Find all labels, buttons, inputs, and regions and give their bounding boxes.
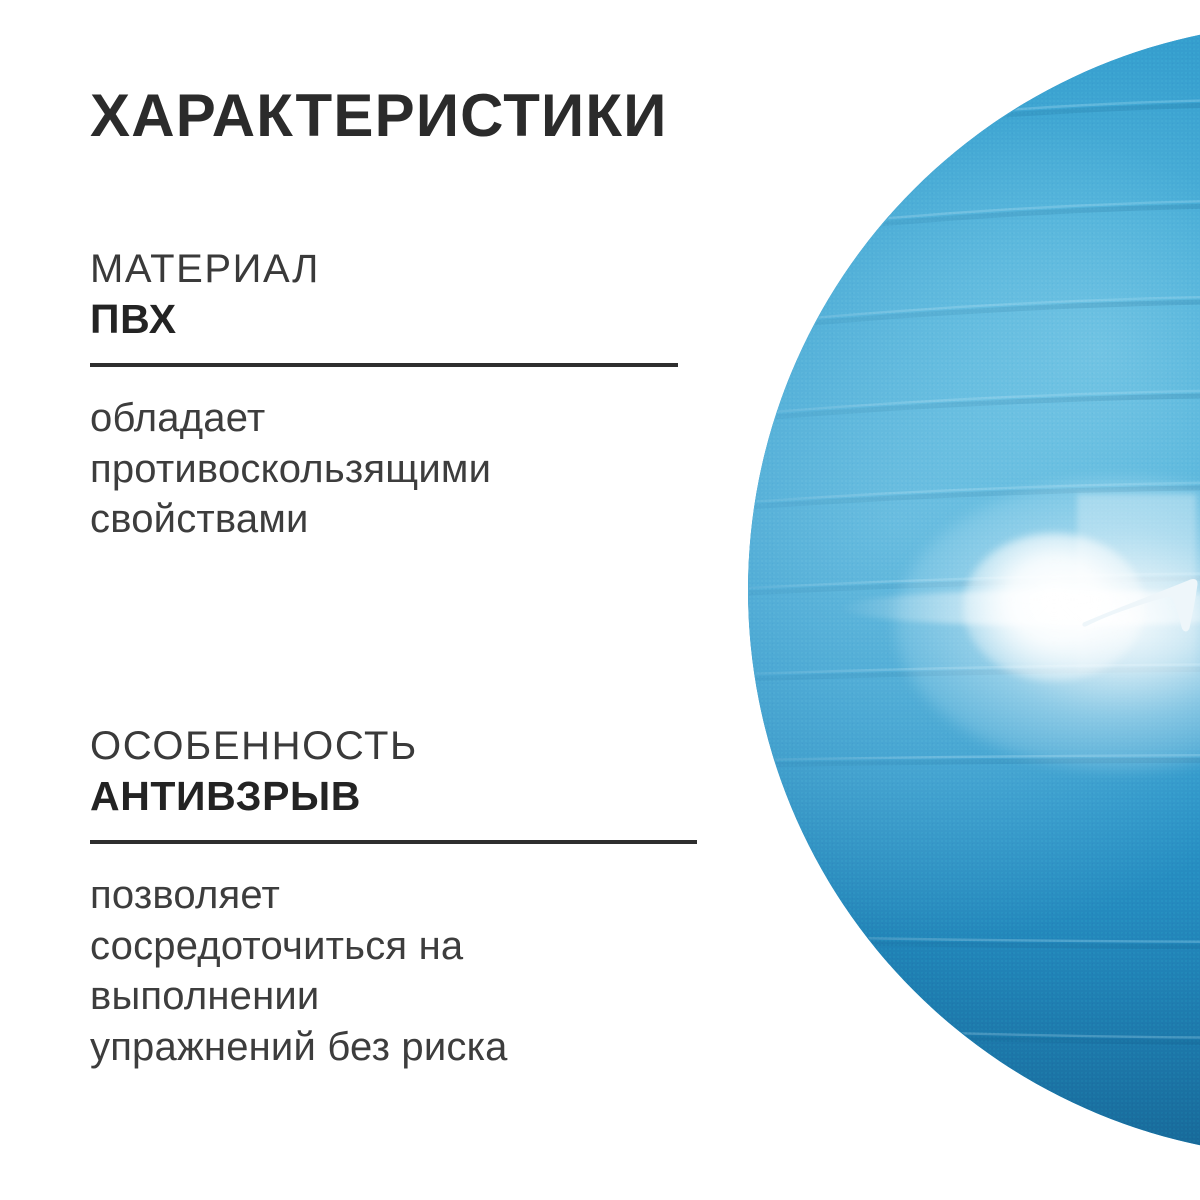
spec-description-line: упражнений без риска [90,1022,697,1072]
ball-matte-texture [748,23,1200,1157]
spec-divider [90,840,697,844]
specular-highlight-soft [895,477,1200,772]
spec-label: ОСОБЕННОСТЬ [90,725,697,768]
swoosh-logo-icon [1080,563,1200,659]
page-title: ХАРАКТЕРИСТИКИ [90,86,668,146]
ball-rim-shadow [748,23,1200,1157]
softbox-reflection [1077,494,1196,675]
specular-highlight-core [963,533,1144,680]
spec-description-line: позволяет [90,870,697,920]
spec-value: АНТИВЗРЫВ [90,774,697,818]
spec-label: МАТЕРИАЛ [90,248,678,291]
ball-sphere [748,23,1200,1157]
spec-description-line: обладает [90,393,678,443]
spec-description-line: противоскользящими [90,444,678,494]
spec-value: ПВХ [90,297,678,341]
spec-description: обладает противоскользящими свойствами [90,393,678,544]
spec-block-material: МАТЕРИАЛ ПВХ обладает противоскользящими… [90,248,678,545]
spec-block-feature: ОСОБЕННОСТЬ АНТИВЗРЫВ позволяет сосредот… [90,725,697,1072]
ball-rib-rings [748,23,1200,1157]
spec-description-line: свойствами [90,494,678,544]
ball-limb-sheen [748,23,1200,1157]
spec-description-line: сосредоточиться на [90,921,697,971]
spec-description: позволяет сосредоточиться на выполнении … [90,870,697,1072]
specular-streak [839,590,1200,626]
spec-divider [90,363,678,367]
spec-description-line: выполнении [90,971,697,1021]
product-spec-infographic: ХАРАКТЕРИСТИКИ МАТЕРИАЛ ПВХ обладает про… [0,0,1200,1200]
ball-base-shading [748,23,1200,1157]
